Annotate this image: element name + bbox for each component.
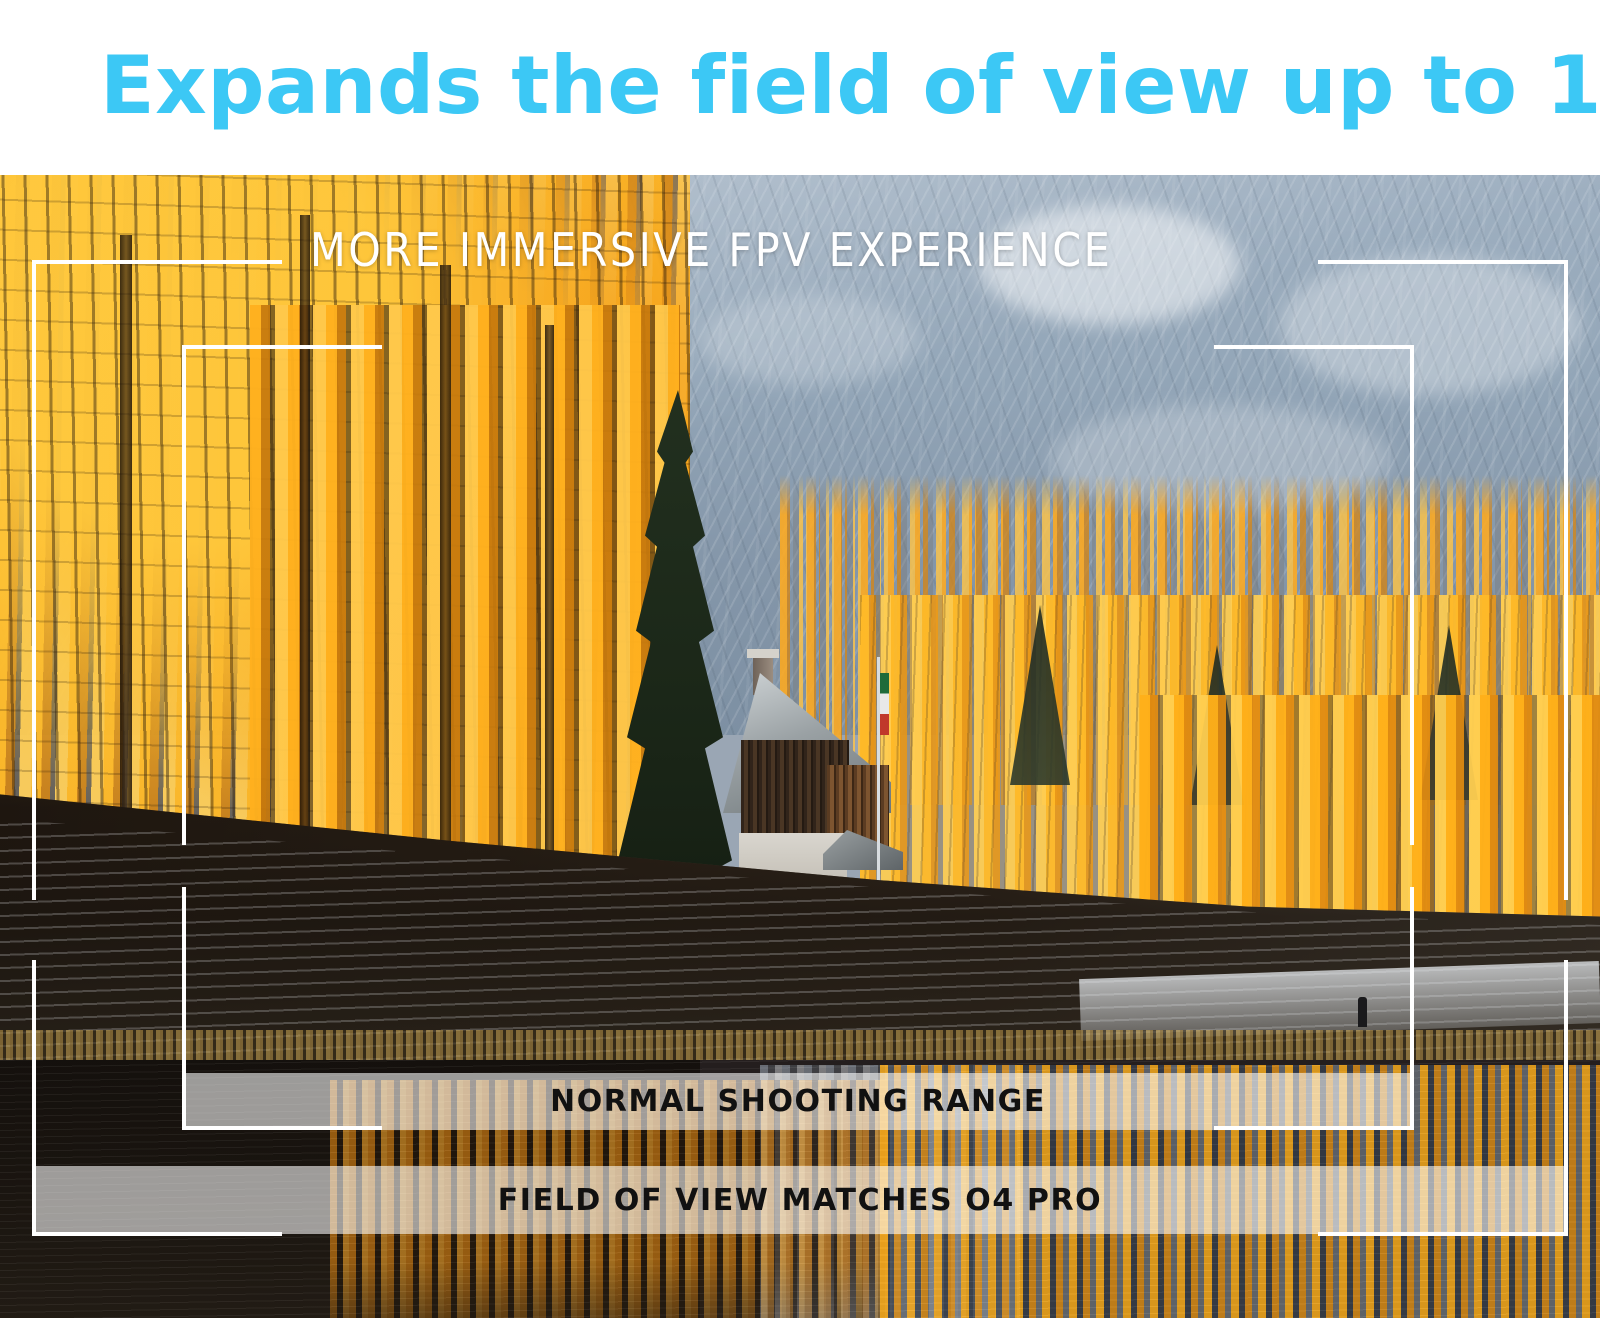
- tree-trunk: [440, 265, 451, 865]
- field-of-view-label: FIELD OF VIEW MATCHES O4 PRO: [498, 1183, 1103, 1218]
- walking-person: [1358, 997, 1367, 1027]
- photo-overline-caption: MORE IMMERSIVE FPV EXPERIENCE: [310, 223, 1112, 277]
- frame-seg-right: [1564, 260, 1568, 900]
- flag: [880, 673, 889, 735]
- normal-shooting-range-band: NORMAL SHOOTING RANGE: [186, 1073, 1410, 1130]
- inner-frame-seg-top-right: [1214, 345, 1414, 349]
- frame-seg-left: [32, 260, 36, 900]
- tree-trunk: [120, 235, 132, 855]
- frame-seg-right-bottom: [1564, 960, 1568, 1236]
- header-bar: Expands the field of view up to 155°: [0, 0, 1600, 175]
- frame-seg-top-right: [1318, 260, 1568, 264]
- tree-trunk: [300, 215, 310, 865]
- frame-seg-top-left: [32, 260, 282, 264]
- tree-trunk: [545, 325, 554, 865]
- poster-root: Expands the field of view up to 155°: [0, 0, 1600, 1318]
- inner-frame-seg-right-bottom: [1410, 887, 1414, 1130]
- page-title: Expands the field of view up to 155°: [100, 38, 1600, 134]
- shore-grass-edge: [0, 1030, 1600, 1062]
- field-of-view-band: FIELD OF VIEW MATCHES O4 PRO: [36, 1166, 1564, 1234]
- inner-frame-seg-left: [182, 345, 186, 845]
- inner-frame-seg-right: [1410, 345, 1414, 845]
- snow-patch: [700, 295, 920, 385]
- snow-patch: [1280, 255, 1580, 395]
- hero-photo: MORE IMMERSIVE FPV EXPERIENCE: [0, 175, 1600, 1318]
- inner-frame-seg-top-left: [182, 345, 382, 349]
- barn-chimney-cap: [747, 649, 779, 658]
- normal-shooting-range-label: NORMAL SHOOTING RANGE: [550, 1084, 1046, 1119]
